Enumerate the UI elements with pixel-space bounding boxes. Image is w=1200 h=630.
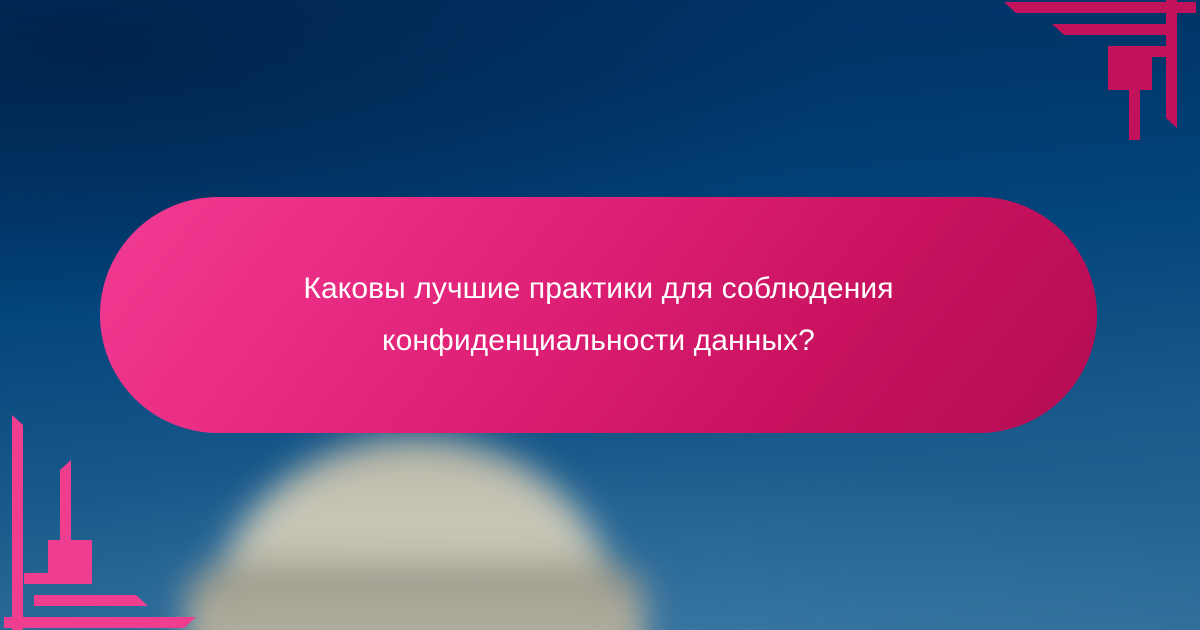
share-card-canvas: Каковы лучшие практики для соблюдения ко… — [0, 0, 1200, 630]
question-card: Каковы лучшие практики для соблюдения ко… — [100, 197, 1097, 433]
corner-ornament-top-right-icon — [990, 0, 1200, 140]
corner-ornament-bottom-left-icon — [0, 415, 210, 630]
question-text: Каковы лучшие практики для соблюдения ко… — [219, 263, 979, 366]
dome-base-shape — [188, 575, 643, 630]
